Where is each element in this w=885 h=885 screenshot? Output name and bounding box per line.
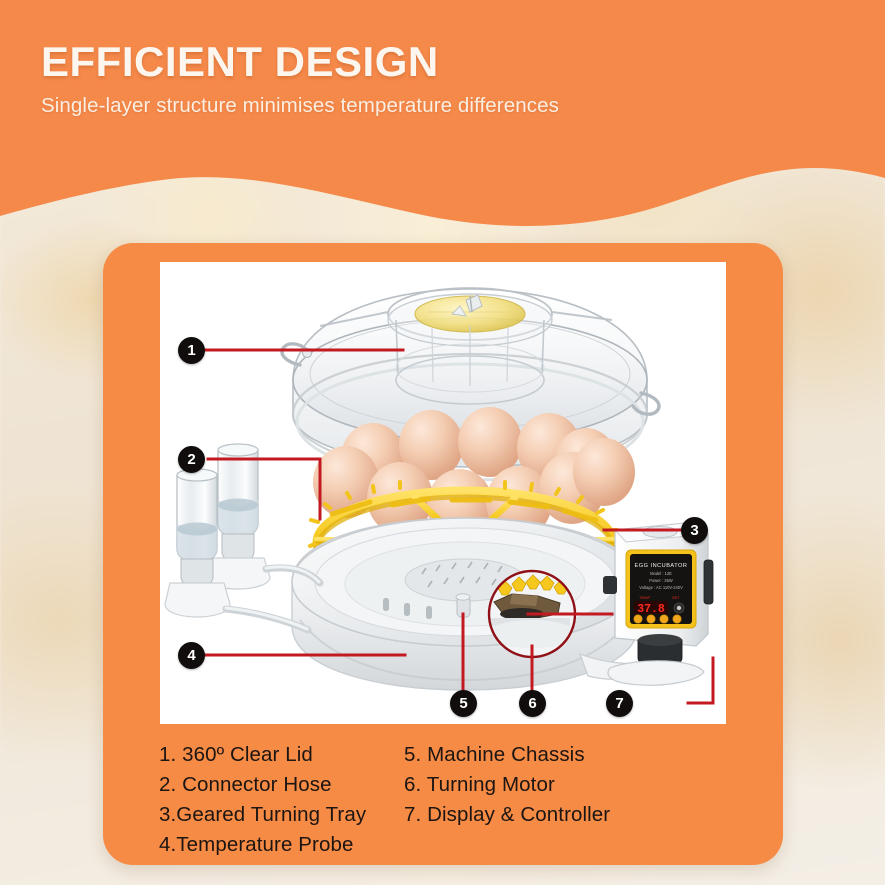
legend-item-2: 2. Connector Hose [159, 770, 404, 799]
svg-text:Power : 35W: Power : 35W [649, 578, 673, 583]
legend-item-7: 7. Display & Controller [404, 800, 610, 829]
header-text-block: EFFICIENT DESIGN Single-layer structure … [41, 41, 761, 119]
legend-column-right: 5. Machine Chassis 6. Turning Motor 7. D… [404, 740, 610, 859]
parts-legend: 1. 360º Clear Lid 2. Connector Hose 3.Ge… [103, 740, 783, 859]
callout-badge-7[interactable]: 7 [606, 690, 633, 717]
callout-badge-1[interactable]: 1 [178, 337, 205, 364]
svg-text:EGG INCUBATOR: EGG INCUBATOR [635, 563, 688, 569]
callout-badge-6[interactable]: 6 [519, 690, 546, 717]
led-readout: 37.8 [637, 603, 665, 616]
svg-text:TEMP: TEMP [639, 595, 650, 600]
callout-badge-2[interactable]: 2 [178, 446, 205, 473]
incubator-diagram: EGG INCUBATOR Model : 12E Power : 35W Vo… [160, 262, 726, 724]
display-controller-graphic: EGG INCUBATOR Model : 12E Power : 35W Vo… [603, 522, 713, 685]
legend-item-1: 1. 360º Clear Lid [159, 740, 404, 769]
legend-item-4: 4.Temperature Probe [159, 830, 404, 859]
page-subtitle: Single-layer structure minimises tempera… [41, 92, 681, 119]
feature-card: EGG INCUBATOR Model : 12E Power : 35W Vo… [103, 243, 783, 865]
callout-badge-4[interactable]: 4 [178, 642, 205, 669]
legend-item-6: 6. Turning Motor [404, 770, 610, 799]
svg-text:SET: SET [672, 595, 680, 600]
legend-column-left: 1. 360º Clear Lid 2. Connector Hose 3.Ge… [159, 740, 404, 859]
svg-text:Voltage : AC 110V-240V: Voltage : AC 110V-240V [639, 585, 683, 590]
svg-text:Model : 12E: Model : 12E [650, 571, 672, 576]
incubator-illustration: EGG INCUBATOR Model : 12E Power : 35W Vo… [160, 262, 726, 724]
callout-badge-3[interactable]: 3 [681, 517, 708, 544]
diagram-panel: EGG INCUBATOR Model : 12E Power : 35W Vo… [160, 262, 726, 724]
legend-item-3: 3.Geared Turning Tray [159, 800, 404, 829]
page-title: EFFICIENT DESIGN [41, 41, 761, 83]
machine-chassis-graphic [292, 518, 658, 690]
page-root: EFFICIENT DESIGN Single-layer structure … [0, 0, 885, 885]
legend-item-5: 5. Machine Chassis [404, 740, 610, 769]
callout-badge-5[interactable]: 5 [450, 690, 477, 717]
